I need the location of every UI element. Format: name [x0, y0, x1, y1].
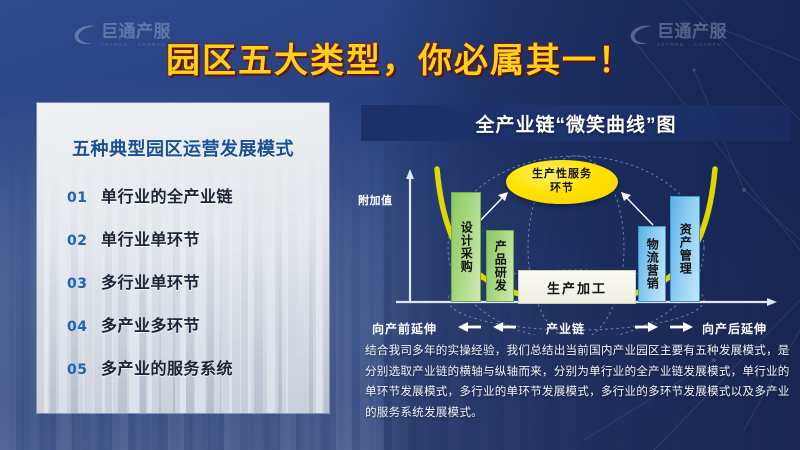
bar-label: 设计采购: [460, 221, 473, 273]
foot-arrows-right: [635, 322, 693, 332]
list-item-number: 05: [67, 362, 101, 378]
right-panel-heading: 全产业链“微笑曲线”图: [475, 110, 676, 137]
bar-production-processing: 生产加工: [518, 270, 636, 304]
y-axis: [406, 169, 414, 302]
list-item-number: 04: [67, 319, 101, 335]
list-item-number: 03: [67, 276, 101, 292]
producer-services-bubble: 生产性服务 环节: [506, 160, 618, 204]
bar-product-rnd: 产品研发: [486, 230, 514, 302]
axis-note-right: 向产后延伸: [702, 320, 767, 337]
bar-design-procurement: 设计采购: [451, 192, 481, 302]
mode-list: 01 单行业的全产业链 02 单行业单环节 03 多行业单环节 04 多产业多环…: [67, 183, 329, 379]
slide-canvas: 巨通产服 JUTONG · CHANFU 巨通产服 JUTONG · CHANF…: [0, 0, 800, 450]
bar-label: 物流营销: [646, 238, 659, 290]
list-item[interactable]: 05 多产业的服务系统: [67, 355, 329, 379]
list-item-label: 单行业的全产业链: [101, 183, 233, 207]
list-item-number: 01: [67, 190, 101, 206]
bar-asset-management: 资产管理: [670, 196, 700, 302]
list-item[interactable]: 02 单行业单环节: [67, 226, 329, 250]
list-item[interactable]: 03 多行业单环节: [67, 269, 329, 293]
left-panel-heading: 五种典型园区运营发展模式: [37, 135, 329, 161]
axis-note-center: 产业链: [546, 320, 585, 337]
bar-label: 资产管理: [679, 223, 692, 275]
bar-label: 生产加工: [547, 278, 607, 297]
foot-arrows-left: [458, 322, 516, 332]
list-item-label: 多行业单环节: [101, 269, 200, 293]
list-item[interactable]: 04 多产业多环节: [67, 312, 329, 336]
bubble-arrow-right: [621, 192, 653, 225]
left-panel: 五种典型园区运营发展模式 01 单行业的全产业链 02 单行业单环节 03 多行…: [37, 103, 329, 413]
list-item-number: 02: [67, 233, 101, 249]
axis-note-left: 向产前延伸: [372, 320, 437, 337]
bar-label: 产品研发: [494, 240, 507, 292]
description-paragraph: 结合我司多年的实操经验，我们总结出当前国内产业园区主要有五种发展模式，是分别选取…: [365, 341, 790, 424]
y-axis-label: 附加值: [358, 192, 393, 208]
page-title: 园区五大类型，你必属其一！: [0, 33, 800, 82]
list-item-label: 单行业单环节: [101, 226, 200, 250]
list-item-label: 多产业的服务系统: [101, 355, 233, 379]
right-heading-band: 全产业链“微笑曲线”图: [361, 105, 791, 141]
bar-logistics-marketing: 物流营销: [638, 226, 666, 302]
list-item[interactable]: 01 单行业的全产业链: [67, 183, 329, 207]
smile-curve-chart: 附加值 设计采购 产品研发 生产加工 物流营销 资产管理 生产性服务 环节 向产…: [358, 150, 794, 335]
list-item-label: 多产业多环节: [101, 312, 200, 336]
bubble-line-2: 环节: [550, 182, 574, 196]
bubble-line-1: 生产性服务: [532, 168, 592, 182]
